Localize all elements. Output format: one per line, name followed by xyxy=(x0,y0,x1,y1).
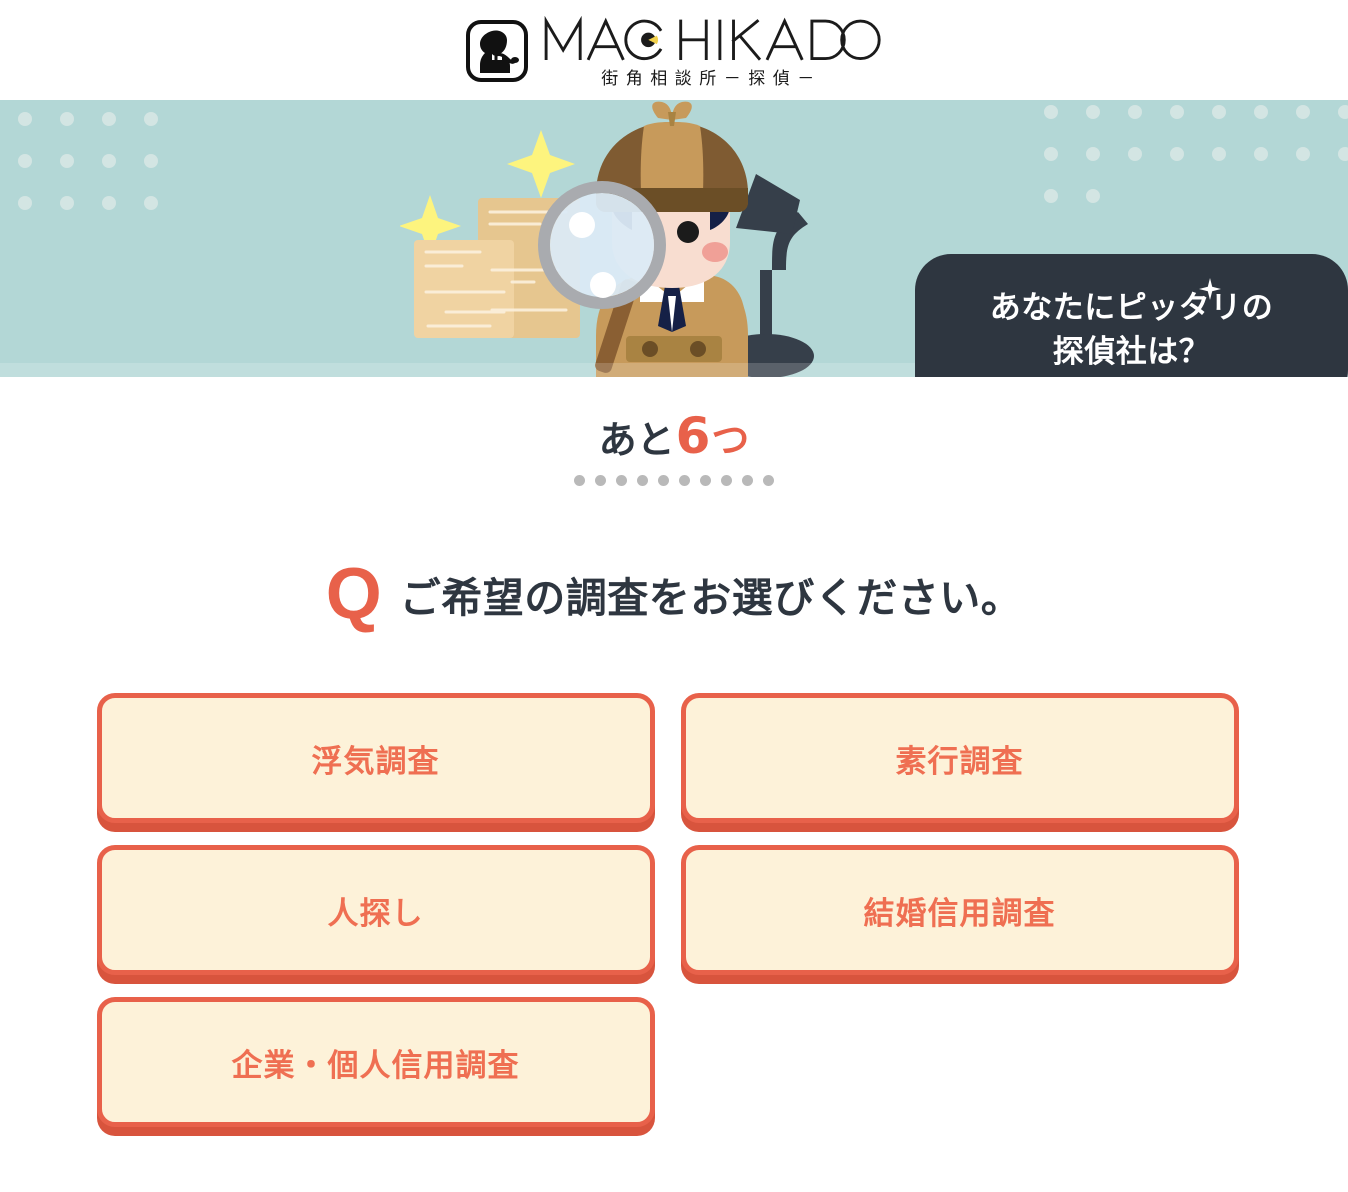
progress-indicator: あと6つ xyxy=(0,411,1348,486)
progress-dot xyxy=(658,475,669,486)
speech-bubble-text-1: あなたにピッタリの xyxy=(990,290,1274,326)
progress-dot xyxy=(679,475,690,486)
hero-banner: あなたにピッタリの 探偵社は？ xyxy=(0,100,1348,377)
dot-pattern-left-icon xyxy=(14,108,204,248)
progress-dot xyxy=(721,475,732,486)
progress-remaining-count: 6 xyxy=(676,411,711,461)
page-title: ご希望の調査をお選びください。 xyxy=(400,564,1023,624)
question-marker: Q xyxy=(326,558,382,630)
brand-wordmark xyxy=(541,16,882,62)
question-heading: Q ご希望の調査をお選びください。 xyxy=(0,558,1348,630)
progress-dot xyxy=(700,475,711,486)
progress-prefix: あと xyxy=(599,421,675,459)
progress-dots xyxy=(574,475,774,486)
answer-option-3[interactable]: 結婚信用調査 xyxy=(681,845,1239,975)
logo-text-block: 街角相談所－探偵－ xyxy=(541,16,882,89)
detective-silhouette-icon xyxy=(466,20,528,82)
answer-options-grid: 浮気調査 素行調査 人探し 結婚信用調査 企業・個人信用調査 xyxy=(97,693,1252,1127)
brand-subtitle: 街角相談所－探偵－ xyxy=(541,64,882,89)
answer-option-1[interactable]: 素行調査 xyxy=(681,693,1239,823)
progress-count: あと6つ xyxy=(599,411,750,461)
answer-option-4[interactable]: 企業・個人信用調査 xyxy=(97,997,655,1127)
progress-dot xyxy=(637,475,648,486)
answer-option-0[interactable]: 浮気調査 xyxy=(97,693,655,823)
answer-option-2[interactable]: 人探し xyxy=(97,845,655,975)
site-logo[interactable]: 街角相談所－探偵－ xyxy=(466,12,882,89)
progress-dot xyxy=(616,475,627,486)
progress-dot xyxy=(595,475,606,486)
speech-bubble-line-1: あなたにピッタリの xyxy=(990,286,1274,330)
progress-dot xyxy=(763,475,774,486)
speech-bubble: あなたにピッタリの 探偵社は？ xyxy=(915,254,1348,377)
progress-unit: つ xyxy=(711,421,749,459)
progress-dot xyxy=(742,475,753,486)
speech-bubble-line-2: 探偵社は？ xyxy=(1053,330,1211,374)
site-header: 街角相談所－探偵－ xyxy=(0,0,1348,100)
progress-dot xyxy=(574,475,585,486)
detective-with-magnifier-illustration xyxy=(400,100,960,377)
